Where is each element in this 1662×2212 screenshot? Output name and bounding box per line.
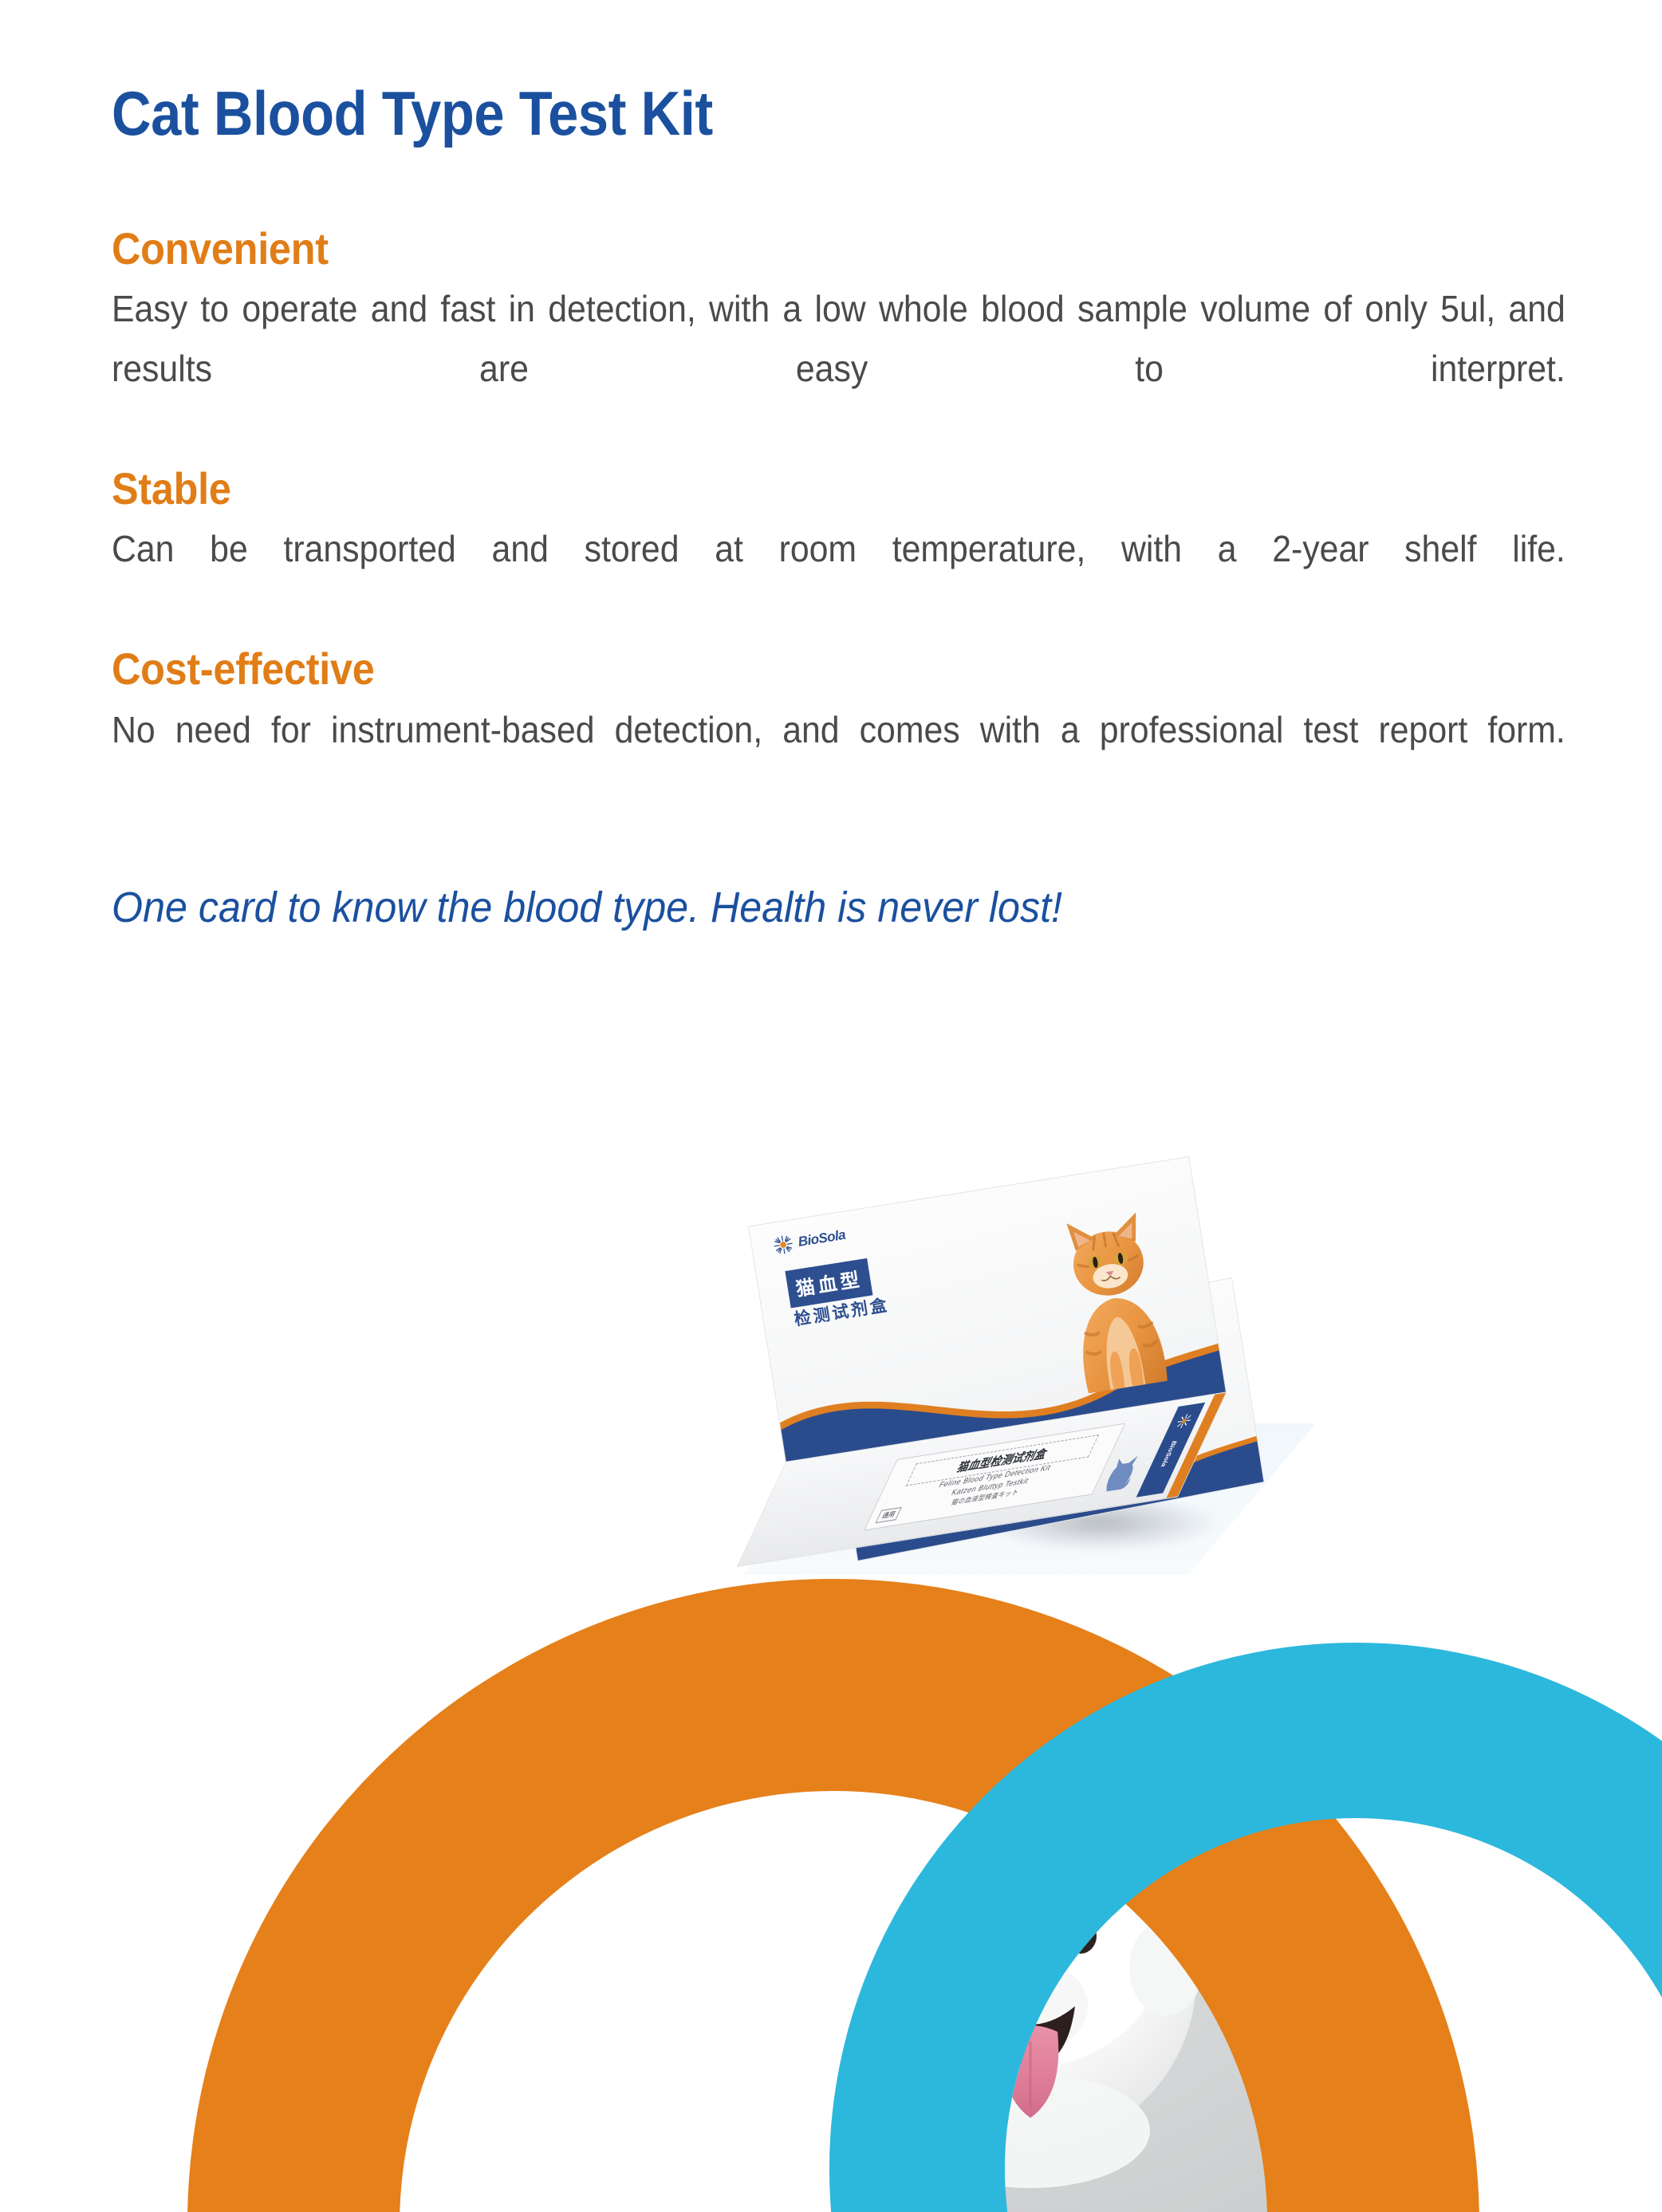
- brand-name: BioSola: [797, 1227, 846, 1250]
- product-box-front: BioSola 猫血型 检测试剂盒: [748, 1156, 1227, 1462]
- side-strip-brand: BioSola: [1160, 1440, 1179, 1467]
- feature-heading: Stable: [112, 462, 1418, 516]
- feature-item-stable: Stable Can be transported and stored at …: [112, 462, 1563, 639]
- box-front-brand: BioSola: [771, 1225, 847, 1257]
- feature-heading: Cost-effective: [112, 642, 1418, 696]
- decorative-rings: [0, 1563, 1662, 2212]
- feature-item-convenient: Convenient Easy to operate and fast in d…: [112, 222, 1563, 459]
- feature-body: Can be transported and stored at room te…: [112, 519, 1566, 639]
- feature-list: Convenient Easy to operate and fast in d…: [112, 222, 1563, 820]
- cat-photo: [1028, 1191, 1199, 1398]
- feature-heading: Convenient: [112, 222, 1418, 276]
- rings-svg: [0, 1563, 1662, 2212]
- text-content: Cat Blood Type Test Kit Convenient Easy …: [112, 80, 1563, 933]
- feature-item-cost-effective: Cost-effective No need for instrument-ba…: [112, 642, 1563, 819]
- sunburst-icon: [771, 1233, 795, 1257]
- feature-body: Easy to operate and fast in detection, w…: [112, 279, 1566, 459]
- page-title: Cat Blood Type Test Kit: [112, 80, 1389, 148]
- sunburst-icon: [1173, 1412, 1195, 1430]
- product-photo: BioSola 猫血型检测试剂盒 Feline Blood Type Detec…: [742, 1172, 1300, 1619]
- feature-body: No need for instrument-based detection, …: [112, 700, 1566, 820]
- poster-page: Cat Blood Type Test Kit Convenient Easy …: [0, 0, 1662, 2212]
- tagline: One card to know the blood type. Health …: [112, 882, 1462, 934]
